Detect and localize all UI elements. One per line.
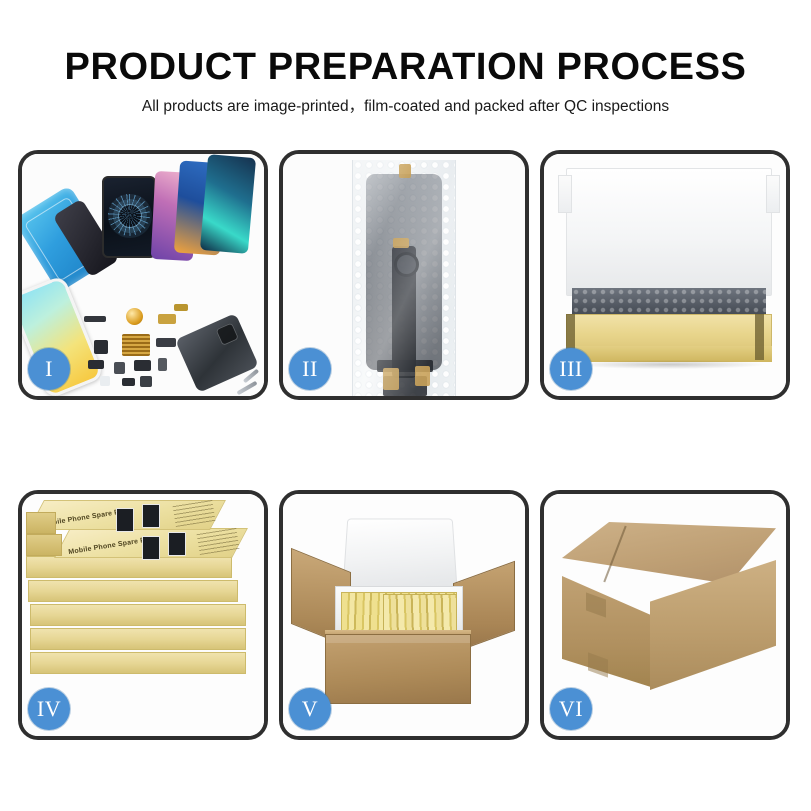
step-panel-5: V — [279, 490, 529, 740]
stacked-box — [30, 652, 246, 674]
small-part-icon — [122, 378, 135, 386]
carton-left-face — [562, 576, 654, 688]
step-badge-3: III — [550, 348, 592, 390]
step-panel-1: I — [18, 150, 268, 400]
box-lid-screen-image — [142, 504, 160, 528]
step-panel-4: Mobile Phone Spare Parts Mobile Phone Sp… — [18, 490, 268, 740]
small-part-icon — [140, 376, 152, 387]
page-title: PRODUCT PREPARATION PROCESS — [0, 44, 811, 90]
small-part-icon — [84, 316, 106, 322]
small-part-icon — [94, 340, 108, 354]
small-part-icon — [114, 362, 125, 374]
gold-coil-icon — [126, 308, 143, 325]
chip-grid-icon — [122, 334, 150, 356]
stacked-box — [26, 556, 232, 578]
small-part-icon — [174, 304, 188, 311]
step-panel-2: II — [279, 150, 529, 400]
tape-icon — [415, 366, 430, 386]
cracked-screen-icon — [102, 176, 156, 258]
stacked-box — [30, 628, 246, 650]
page-subtitle: All products are image-printed，film-coat… — [0, 97, 811, 117]
tape-icon — [399, 164, 411, 178]
box-lid-screen-image — [116, 508, 134, 532]
box-shadow — [574, 360, 764, 369]
small-part-icon — [88, 360, 104, 369]
step-badge-1: I — [28, 348, 70, 390]
stacked-box-side — [26, 534, 62, 556]
screwdriver-icon — [236, 381, 257, 395]
product-preparation-infographic: PRODUCT PREPARATION PROCESS All products… — [0, 0, 811, 811]
small-part-icon — [158, 314, 176, 324]
tape-icon — [393, 238, 409, 248]
box-corner-icon — [755, 314, 764, 360]
foam-lid-icon — [342, 519, 457, 589]
stacked-box-side — [26, 512, 56, 534]
tape-icon — [383, 368, 399, 390]
stacked-box — [30, 604, 246, 626]
phone-display-teal-icon — [200, 154, 256, 254]
step-panel-3: III — [540, 150, 790, 400]
flex-cable-icon — [392, 246, 416, 378]
stacked-box — [28, 580, 238, 602]
carton-front-icon — [325, 634, 471, 704]
small-part-icon — [158, 358, 167, 371]
step-badge-2: II — [289, 348, 331, 390]
white-inner-lid-icon — [566, 168, 772, 296]
header: PRODUCT PREPARATION PROCESS All products… — [0, 44, 811, 117]
step-badge-4: IV — [28, 688, 70, 730]
small-part-icon — [134, 360, 151, 371]
small-part-icon — [156, 338, 176, 347]
small-part-icon — [100, 376, 110, 386]
process-steps-grid: I II — [18, 150, 793, 742]
step-badge-6: VI — [550, 688, 592, 730]
box-lid-screen-image — [168, 532, 186, 556]
bubble-wrap-image — [352, 160, 456, 396]
step-panel-6: VI — [540, 490, 790, 740]
box-lid-screen-image — [142, 536, 160, 560]
step-badge-5: V — [289, 688, 331, 730]
